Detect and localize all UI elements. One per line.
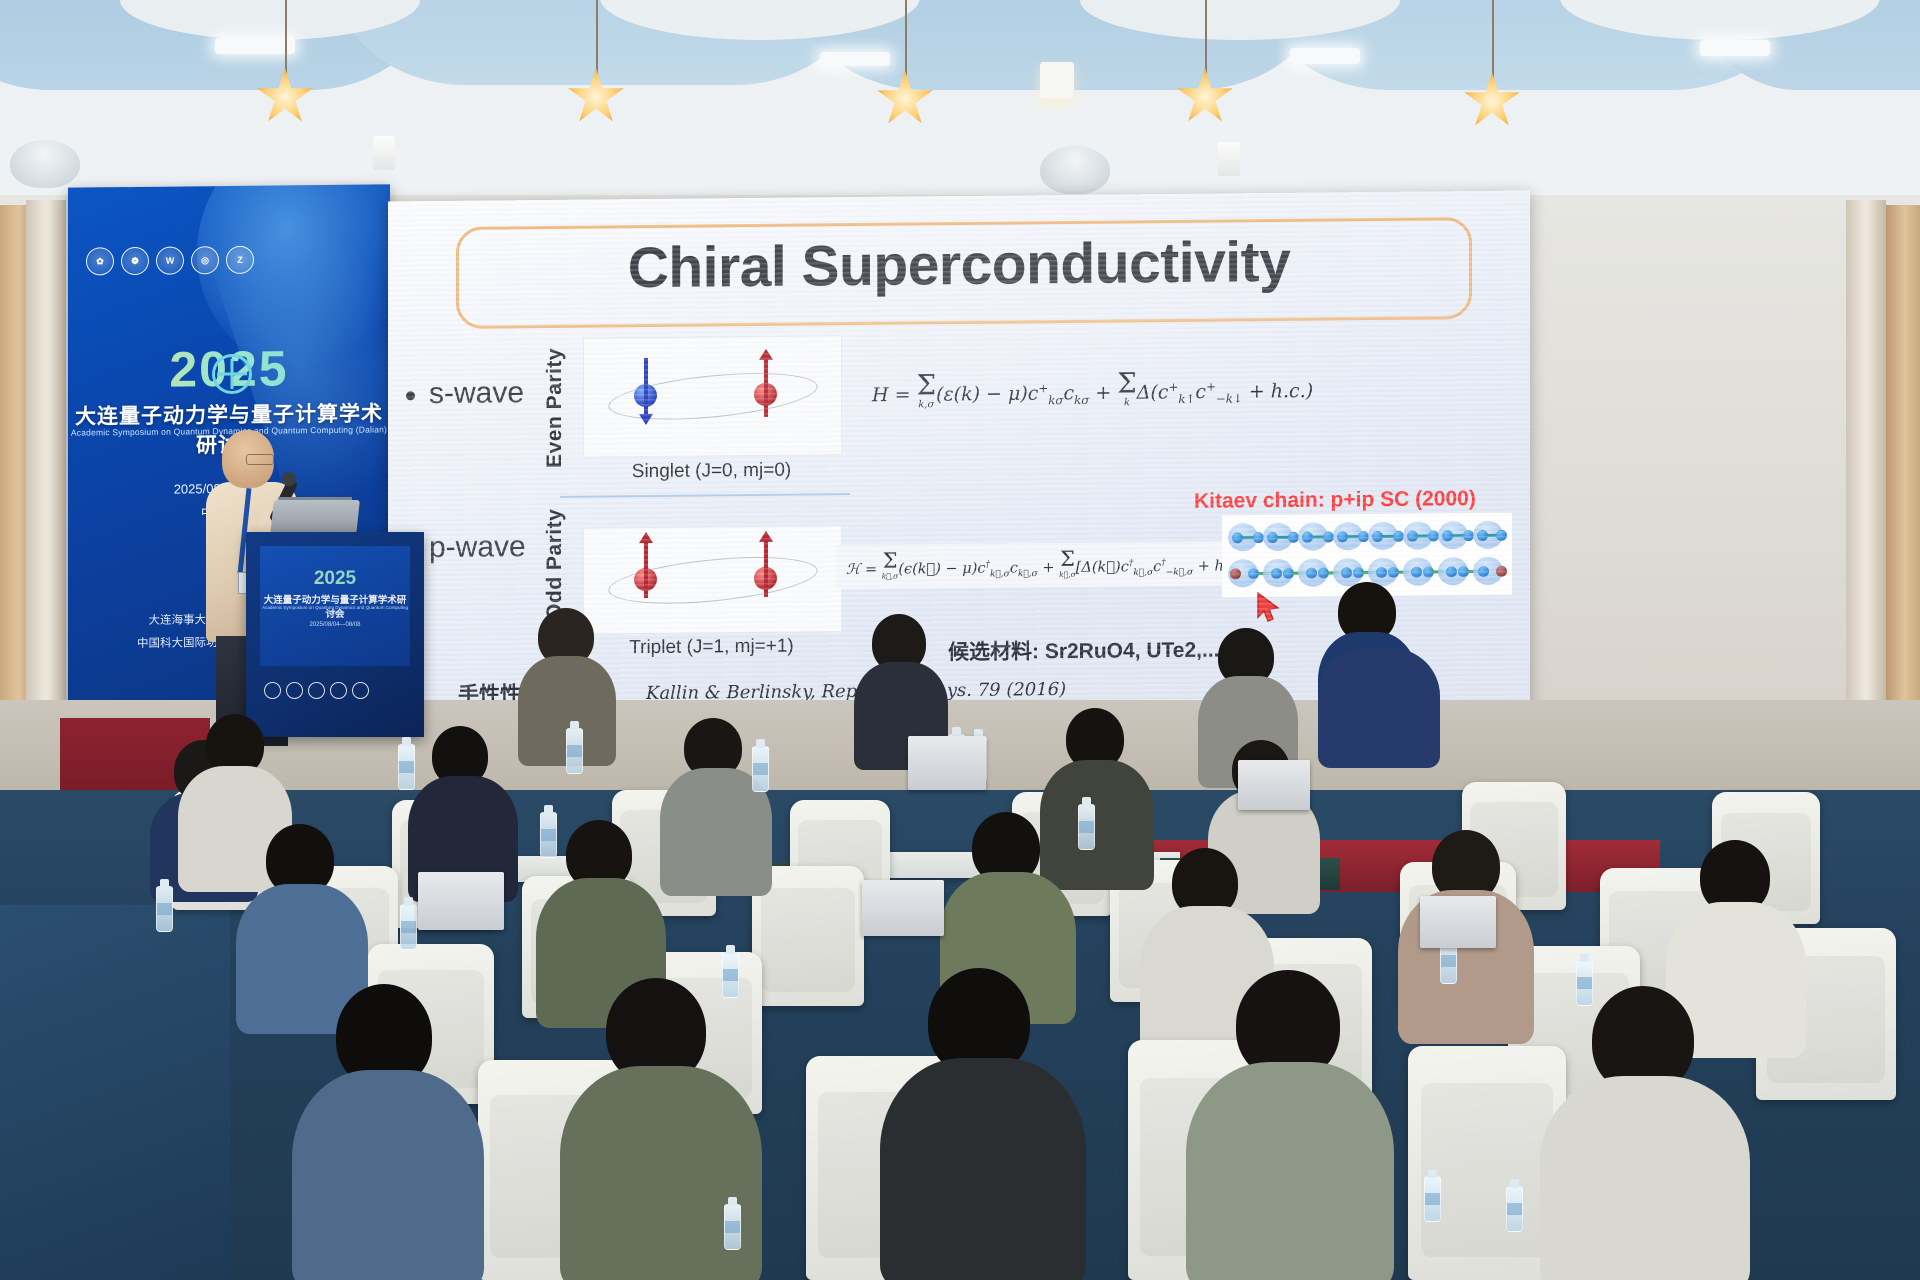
label-odd-parity: Odd Parity [543,500,567,620]
bullet-label: s-wave [429,376,524,410]
audience-person [854,614,946,750]
bullet-label: p-wave [429,530,526,564]
attendee-laptop [418,872,504,930]
water-bottle [400,904,417,950]
audience-person [660,718,768,886]
university-logo-icon [286,682,303,699]
attendee-laptop [908,736,986,790]
university-logo-icon [308,682,325,699]
banner-logo-row: ✿ ❁ W ◎ Z [86,246,254,276]
podium-laptop [270,500,360,536]
lamp-wire [1492,0,1494,82]
audience-person [518,608,614,748]
slide-divider [560,493,850,498]
spin-arrow-up [644,542,648,598]
dome-light [1040,146,1110,194]
water-bottle [724,1204,741,1250]
triplet-diagram [583,525,842,634]
attendee-laptop [1238,760,1310,810]
star-pendant-lamp [876,70,934,128]
recessed-light [215,38,295,54]
bullet-dot-icon [406,391,415,400]
audience-person [1318,628,1438,758]
water-bottle [1506,1186,1523,1232]
audience-person [408,726,516,894]
water-bottle [1576,960,1593,1006]
arrow-head-up [639,532,653,543]
spin-arrow-down [644,358,648,416]
recessed-light [1700,40,1770,56]
dome-light [10,140,80,188]
kitaev-row-trivial [1228,521,1506,554]
podium-banner-panel: 2025 大连量子动力学与量子计算学术研讨会 Academic Symposiu… [260,546,410,666]
water-bottle [540,812,557,858]
candidate-materials-text: 候选材料: Sr2RuO4, UTe2,... [948,633,1220,666]
singlet-diagram [583,335,842,457]
glasses-icon [246,454,274,465]
audience-person [1540,986,1748,1280]
formula-p-wave: ℋ = Σk⃗,σ(ϵ(k⃗) − μ)c†k⃗,σck⃗,σ + Σk⃗,σ[… [836,541,1257,589]
university-logo-icon: Z [226,246,254,274]
podium-year: 2025 [260,568,410,590]
water-bottle [156,886,173,932]
star-pendant-lamp [1176,68,1234,126]
university-logo-icon [264,682,281,699]
university-logo-icon [352,682,369,699]
lamp-wire [596,0,598,78]
podium: 2025 大连量子动力学与量子计算学术研讨会 Academic Symposiu… [246,532,424,737]
lamp-wire [285,0,287,78]
star-pendant-lamp [256,68,314,126]
water-bottle [398,744,415,790]
formula-s-wave: H = Σk,σ(ε(k) − μ)c+kσckσ + ΣkΔ(c+k↑c+−k… [872,371,1313,411]
university-logo-icon [330,682,347,699]
bullet-s-wave: s-wave [406,376,524,411]
attendee-laptop [1420,896,1496,948]
university-logo-icon: ❁ [121,247,149,275]
podium-title-en: Academic Symposium on Quantum Dynamics a… [260,605,410,615]
kitaev-chain-label: Kitaev chain: p+ip SC (2000) [1194,487,1476,514]
attendee-laptop [862,880,944,936]
spin-arrow-up [764,541,768,597]
podium-logo-row [264,682,369,699]
water-bottle [1078,804,1095,850]
recessed-light [820,52,890,66]
caption-singlet: Singlet (J=0, mj=0) [583,459,840,483]
arrow-head-up [759,349,773,360]
ship-wheel-icon [212,354,252,394]
star-pendant-lamp [567,68,625,126]
lamp-wire [905,0,907,80]
caption-triplet: Triplet (J=1, mj=+1) [583,635,840,659]
label-even-parity: Even Parity [543,348,567,468]
arrow-head-up [759,531,773,542]
cylinder-lamp [1040,62,1074,98]
podium-date: 2025/08/04—08/08 [260,622,410,628]
downlight [373,136,395,170]
university-logo-icon: ◎ [191,246,219,274]
audience-person [292,984,482,1280]
water-bottle [752,746,769,792]
microphone-head-icon [282,472,296,486]
audience-person [880,968,1084,1280]
slide-title: Chiral Superconductivity [388,227,1530,304]
recessed-light [1290,48,1360,64]
university-logo-icon: ✿ [86,247,114,275]
spin-arrow-up [764,359,768,417]
audience-person [1186,970,1392,1280]
downlight [1218,142,1240,176]
university-logo-icon: W [156,246,184,274]
conference-photo-scene: ✿ ❁ W ◎ Z 2025 大连量子动力学与量子计算学术研讨会 Academi… [0,0,1920,1280]
water-bottle [566,728,583,774]
lamp-wire [1205,0,1207,78]
star-pendant-lamp [1463,72,1521,130]
arrow-head-down [639,414,653,425]
carpet-left [0,905,230,1280]
water-bottle [722,952,739,998]
water-bottle [1424,1176,1441,1222]
